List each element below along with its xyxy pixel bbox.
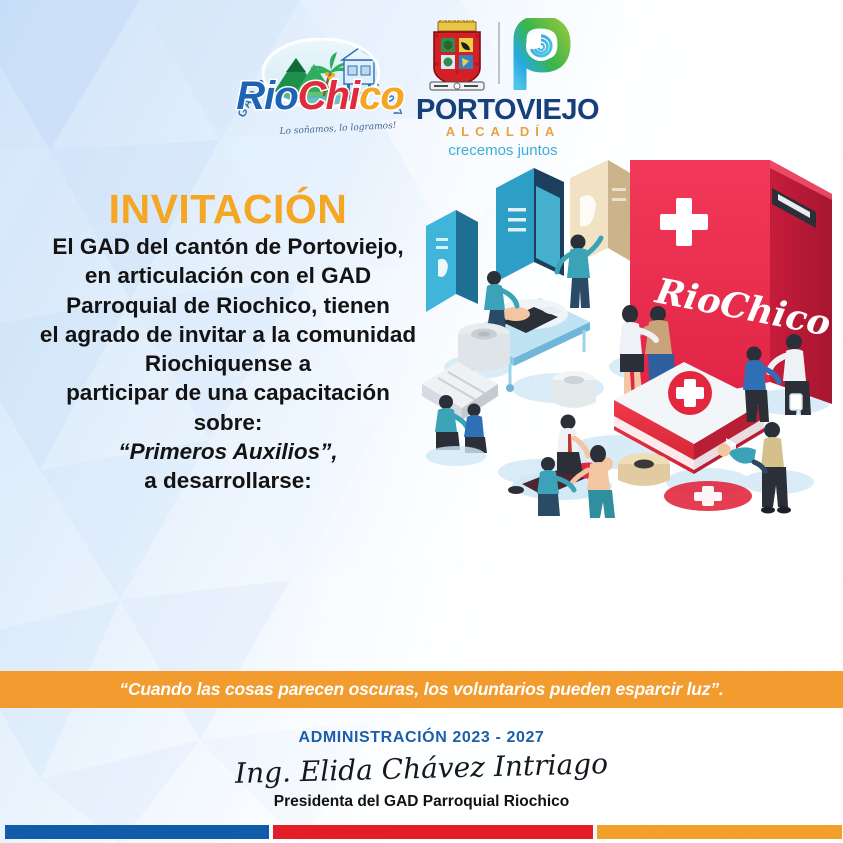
footer-bar-red <box>273 825 593 839</box>
body-line-5: Riochiquense a <box>16 349 440 378</box>
quote-text: “Cuando las cosas parecen oscuras, los v… <box>119 679 723 700</box>
riochico-wordmark: RioChico <box>232 74 408 119</box>
body-line-3: Parroquial de Riochico, tienen <box>16 291 440 320</box>
logo-bar: GAD PARROQUIAL 2023 - 2027 <box>0 0 843 172</box>
portoviejo-logo: PORTOVIEJO ALCALDÍA crecemos juntos <box>418 18 588 158</box>
closing-line: a desarrollarse: <box>16 466 440 495</box>
logo-divider <box>498 22 500 84</box>
invitation-poster: GAD PARROQUIAL 2023 - 2027 <box>0 0 843 843</box>
quote-banner: “Cuando las cosas parecen oscuras, los v… <box>0 671 843 708</box>
riochico-logo: GAD PARROQUIAL 2023 - 2027 <box>232 12 408 164</box>
footer-bar-orange <box>597 825 842 839</box>
body-line-1: El GAD del cantón de Portoviejo, <box>16 232 440 261</box>
body-line-2: en articulación con el GAD <box>16 261 440 290</box>
footer-color-bars <box>0 825 843 839</box>
body-line-6: participar de una capacitación <box>16 378 440 407</box>
page-title: INVITACIÓN <box>28 186 428 233</box>
body-line-7: sobre: <box>16 408 440 437</box>
portoviejo-p-icon <box>510 18 576 90</box>
riochico-word-chi: Chi <box>298 74 359 118</box>
footer-bar-blue <box>5 825 269 839</box>
event-details: FECHA: Sábado 20de Enero 09h00 (De la ma… <box>0 500 843 668</box>
body-line-4: el agrado de invitar a la comunidad <box>16 320 440 349</box>
riochico-tagline: Lo soñamos, lo logramos! <box>278 121 398 137</box>
topic-title: “Primeros Auxilios”, <box>16 437 440 466</box>
riochico-word-co: co <box>359 74 404 118</box>
portoviejo-coat-of-arms-icon <box>428 20 486 92</box>
portoviejo-name: PORTOVIEJO <box>416 94 590 127</box>
first-aid-illustration: RioChico <box>418 152 843 520</box>
body-copy: El GAD del cantón de Portoviejo, en arti… <box>16 232 440 495</box>
signature-role: Presidenta del GAD Parroquial Riochico <box>0 793 843 811</box>
portoviejo-subtitle: ALCALDÍA <box>416 124 590 139</box>
riochico-word-rio: Rio <box>236 74 297 118</box>
